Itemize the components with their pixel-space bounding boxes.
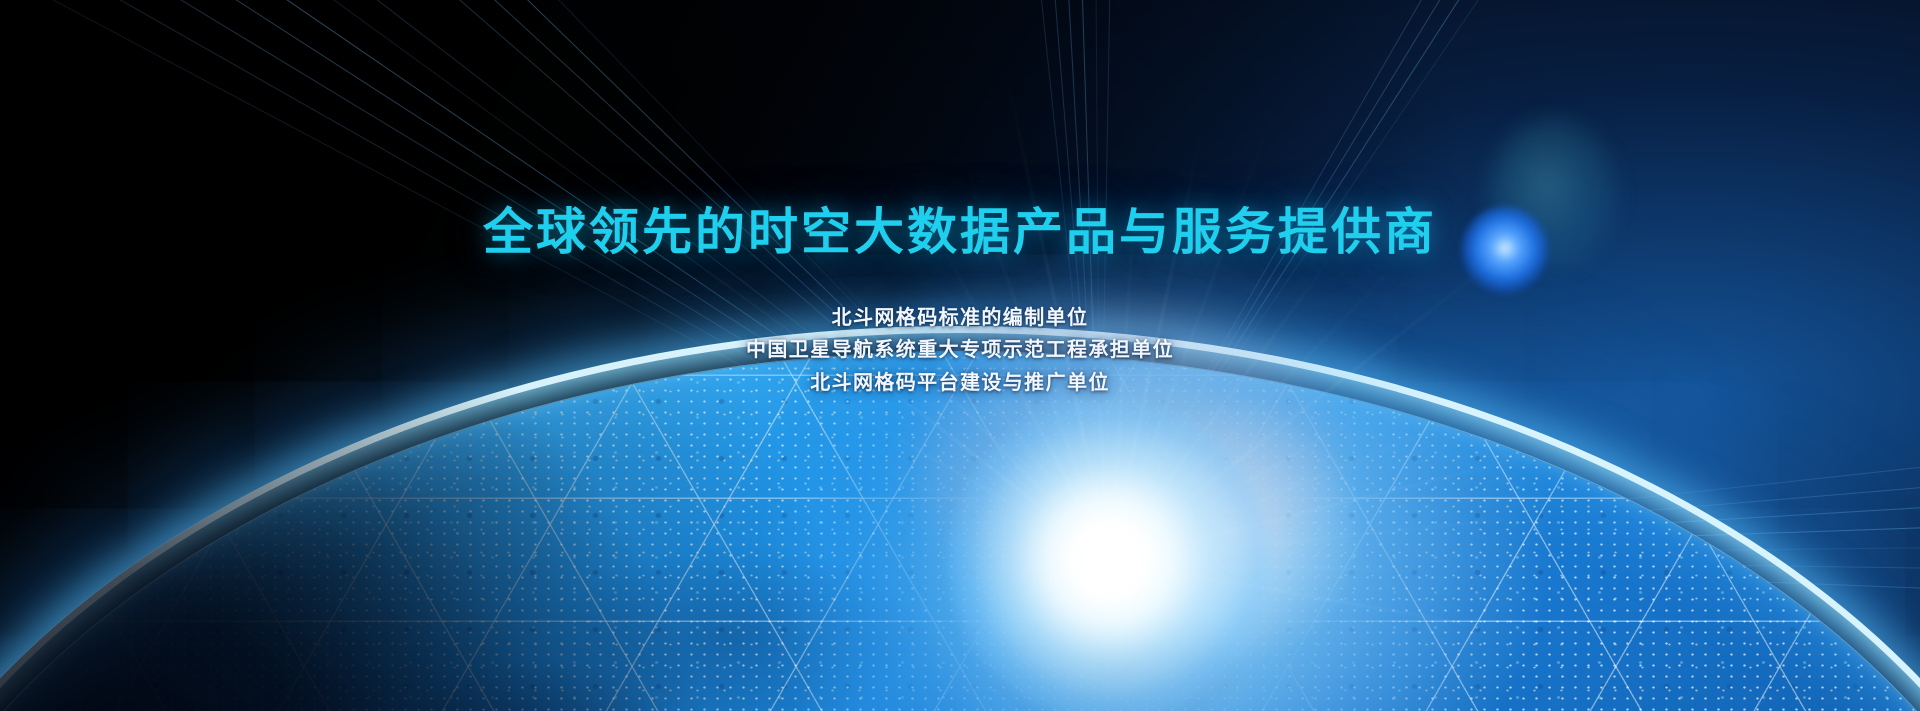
subtitle-list: 北斗网格码标准的编制单位 中国卫星导航系统重大专项示范工程承担单位 北斗网格码平…	[0, 302, 1920, 399]
page-title: 全球领先的时空大数据产品与服务提供商	[0, 205, 1920, 260]
subtitle-line-1: 北斗网格码标准的编制单位	[0, 302, 1920, 334]
banner-text-block: 全球领先的时空大数据产品与服务提供商 北斗网格码标准的编制单位 中国卫星导航系统…	[0, 205, 1920, 399]
subtitle-line-3: 北斗网格码平台建设与推广单位	[0, 367, 1920, 399]
sun-flare-core	[950, 400, 1270, 711]
subtitle-line-2: 中国卫星导航系统重大专项示范工程承担单位	[0, 334, 1920, 366]
hero-banner: 全球领先的时空大数据产品与服务提供商 北斗网格码标准的编制单位 中国卫星导航系统…	[0, 0, 1920, 711]
